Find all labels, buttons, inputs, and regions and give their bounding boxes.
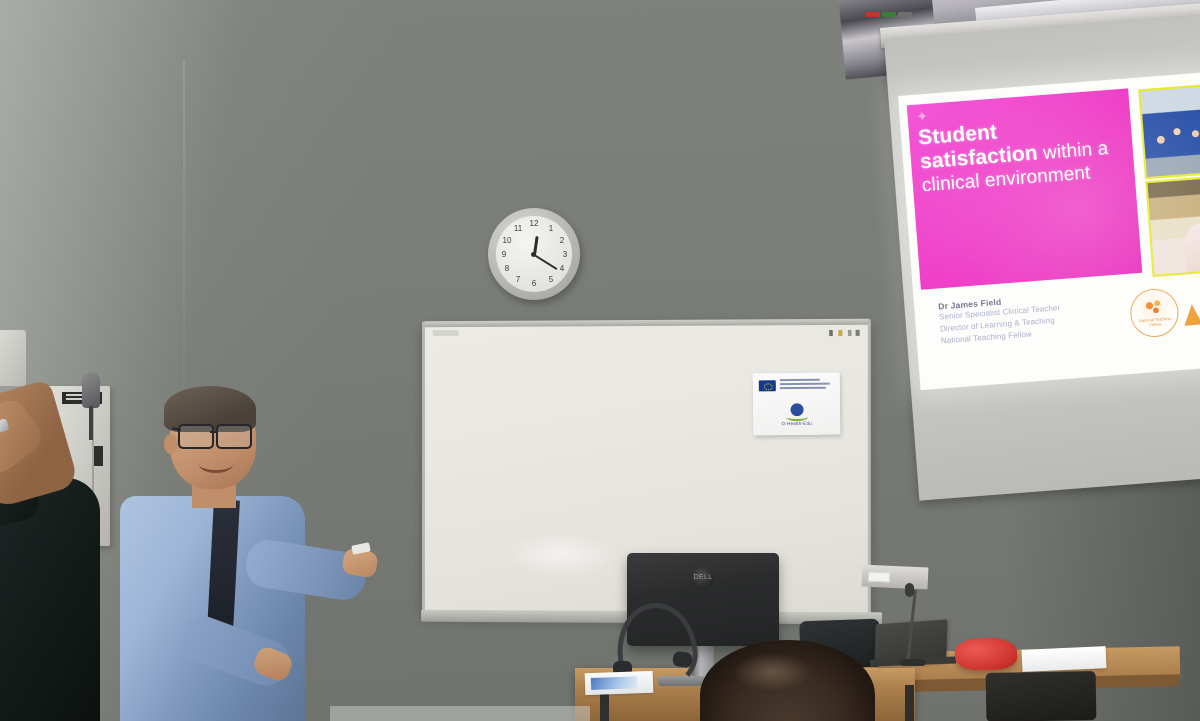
sparkle-icon: ✦ <box>915 110 929 124</box>
lecture-room-photo: ✦ Student satisfaction within a clinical… <box>0 0 1200 721</box>
photo-clinical-chair <box>1145 175 1200 277</box>
clock-numeral-1: 1 <box>545 224 557 233</box>
clock-minute-hand <box>534 254 558 270</box>
clock-numeral-10: 10 <box>501 236 513 245</box>
clock-numeral-9: 9 <box>498 250 510 259</box>
presenter <box>60 378 350 721</box>
clock-numeral-8: 8 <box>501 264 513 273</box>
clock-face: 12 1 2 3 4 5 6 7 8 9 10 11 <box>496 216 572 292</box>
desk-microphone-base <box>900 659 926 666</box>
black-marker[interactable] <box>898 12 912 17</box>
projected-slide: ✦ Student satisfaction within a clinical… <box>898 72 1200 390</box>
whiteboard-label <box>433 330 459 336</box>
clock-numeral-12: 12 <box>528 219 540 228</box>
clock-numeral-7: 7 <box>512 275 524 284</box>
red-bag <box>954 637 1017 671</box>
higher-education-academy-logo: Higher Education Academy <box>1183 299 1200 329</box>
whiteboard-eraser[interactable] <box>868 572 890 583</box>
dell-logo: DELL <box>692 567 714 589</box>
funding-statement <box>780 379 832 392</box>
clock-numeral-3: 3 <box>559 250 571 259</box>
glasses-icon <box>172 424 256 446</box>
ntf-logo-caption: National Teaching Fellow <box>1138 316 1173 329</box>
desk-leg-left <box>600 690 609 721</box>
national-teaching-fellow-logo: National Teaching Fellow <box>1129 287 1181 339</box>
eu-flag-icon <box>759 380 776 391</box>
slide-title-line2-light: within a <box>1037 138 1109 164</box>
o-health-edu-poster: O-Health-Edu <box>753 373 841 436</box>
desk-microphone-icon <box>905 583 914 597</box>
clock-numeral-2: 2 <box>556 236 568 245</box>
clock-center-cap <box>531 252 536 257</box>
printed-handout <box>585 671 654 695</box>
green-marker[interactable] <box>882 12 896 17</box>
wall-clock: 12 1 2 3 4 5 6 7 8 9 10 11 <box>488 208 580 300</box>
o-health-edu-logo-icon <box>789 403 805 418</box>
headset-earcup-right <box>672 651 693 668</box>
desk-leg-right <box>905 685 914 721</box>
foreground-desk-edge <box>330 706 590 721</box>
photo-students-in-scrubs <box>1138 83 1200 179</box>
whiteboard-corner-markers <box>829 330 859 336</box>
clock-numeral-5: 5 <box>545 275 557 284</box>
clock-numeral-4: 4 <box>556 264 568 273</box>
white-papers <box>1022 646 1107 672</box>
clock-numeral-6: 6 <box>528 279 540 288</box>
o-health-edu-name: O-Health-Edu <box>753 421 840 427</box>
clock-numeral-11: 11 <box>512 224 524 233</box>
slide-byline: Dr James Field Senior Specialist Clinica… <box>938 288 1121 348</box>
chair-under-desk <box>986 671 1097 721</box>
red-marker[interactable] <box>866 12 880 17</box>
presenter-smile <box>199 456 233 473</box>
